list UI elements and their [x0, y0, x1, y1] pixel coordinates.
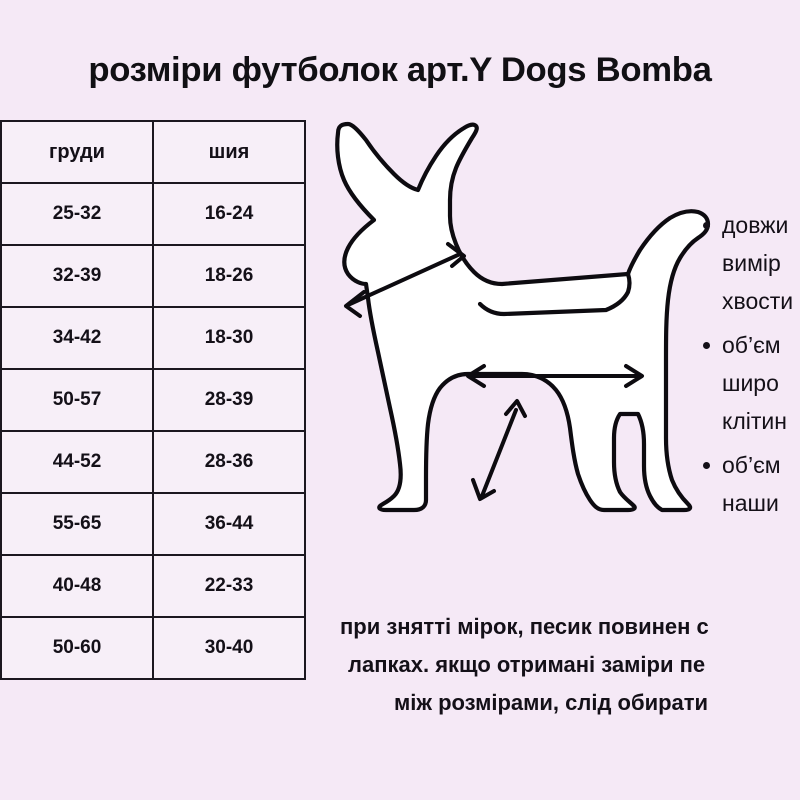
- table-row: 44-52 28-36: [0, 431, 305, 493]
- cell-neck: 28-39: [153, 369, 305, 431]
- table-header-row: а груди шия: [0, 121, 305, 183]
- note-line: об’єм: [722, 452, 781, 478]
- dog-measurement-diagram: [322, 108, 722, 533]
- note-line: вимір: [722, 250, 781, 276]
- cell-chest: 55-65: [1, 493, 153, 555]
- table-row: 32-39 18-26: [0, 245, 305, 307]
- cell-neck: 30-40: [153, 617, 305, 679]
- cell-chest: 44-52: [1, 431, 153, 493]
- cell-neck: 16-24: [153, 183, 305, 245]
- note-item: об’єм наши: [722, 446, 800, 522]
- cell-chest: 40-48: [1, 555, 153, 617]
- measurement-notes: довжи вимір хвости об’єм широ клітин об’…: [700, 206, 800, 528]
- table-row: 50-57 28-39: [0, 369, 305, 431]
- page-title: розміри футболок арт.Y Dogs Bomba: [0, 48, 800, 92]
- cell-chest: 34-42: [1, 307, 153, 369]
- table-row: 55-65 36-44: [0, 493, 305, 555]
- size-table: а груди шия 25-32 16-24 32-39 18-26: [0, 120, 306, 680]
- chest-girth-arrow: [473, 401, 525, 499]
- instruction-line-3: між розмірами, слід обирати: [340, 684, 800, 722]
- instruction-line-2: лапках. якщо отримані заміри пе: [340, 646, 800, 684]
- cell-neck: 18-26: [153, 245, 305, 307]
- note-line: широ: [722, 370, 779, 396]
- note-line: клітин: [722, 408, 787, 434]
- table-row: 40-48 22-33: [0, 555, 305, 617]
- cell-neck: 18-30: [153, 307, 305, 369]
- cell-chest: 25-32: [1, 183, 153, 245]
- cell-chest: 50-60: [1, 617, 153, 679]
- cell-chest: 50-57: [1, 369, 153, 431]
- note-line: наши: [722, 490, 779, 516]
- column-header-neck: шия: [153, 121, 305, 183]
- note-line: хвости: [722, 288, 793, 314]
- size-chart-page: розміри футболок арт.Y Dogs Bomba а груд…: [0, 0, 800, 800]
- table-row: 25-32 16-24: [0, 183, 305, 245]
- cell-neck: 36-44: [153, 493, 305, 555]
- cell-chest: 32-39: [1, 245, 153, 307]
- table-row: 34-42 18-30: [0, 307, 305, 369]
- measuring-instructions: при знятті мірок, песик повинен с лапках…: [340, 608, 800, 722]
- instruction-line-1: при знятті мірок, песик повинен с: [340, 608, 800, 646]
- cell-neck: 28-36: [153, 431, 305, 493]
- dog-outline-shape: [337, 124, 708, 510]
- note-line: довжи: [722, 212, 788, 238]
- column-header-chest: груди: [1, 121, 153, 183]
- size-table-container: а груди шия 25-32 16-24 32-39 18-26: [0, 120, 304, 680]
- table-row: 50-60 30-40: [0, 617, 305, 679]
- note-line: об’єм: [722, 332, 781, 358]
- note-item: довжи вимір хвости: [722, 206, 800, 320]
- cell-neck: 22-33: [153, 555, 305, 617]
- note-item: об’єм широ клітин: [722, 326, 800, 440]
